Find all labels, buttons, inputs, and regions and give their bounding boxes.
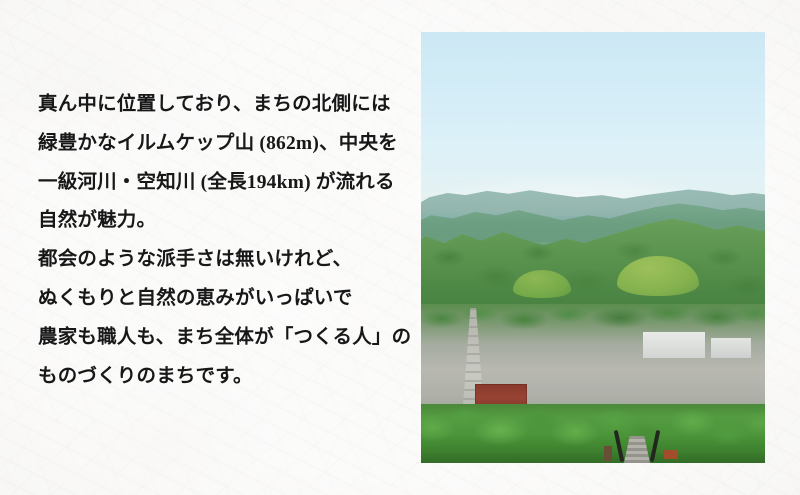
town-landscape-photo: [421, 32, 765, 463]
description-text-block: 真ん中に位置しており、まちの北側には 緑豊かなイルムケップ山 (862m)、中央…: [38, 86, 410, 396]
description-line-3: 一級河川・空知川 (全長194km) が流れる: [38, 164, 410, 203]
description-line-2: 緑豊かなイルムケップ山 (862m)、中央を: [38, 125, 410, 164]
description-line-7: 農家も職人も、まち全体が「つくる人」の: [38, 319, 410, 358]
description-line-8: ものづくりのまちです。: [38, 358, 410, 397]
description-line-1: 真ん中に位置しており、まちの北側には: [38, 86, 410, 125]
description-line-4: 自然が魅力。: [38, 202, 410, 241]
photo-sheen-overlay: [421, 32, 765, 463]
description-line-6: ぬくもりと自然の恵みがいっぱいで: [38, 280, 410, 319]
description-line-5: 都会のような派手さは無いけれど、: [38, 241, 410, 280]
page-root: 真ん中に位置しており、まちの北側には 緑豊かなイルムケップ山 (862m)、中央…: [0, 0, 800, 495]
